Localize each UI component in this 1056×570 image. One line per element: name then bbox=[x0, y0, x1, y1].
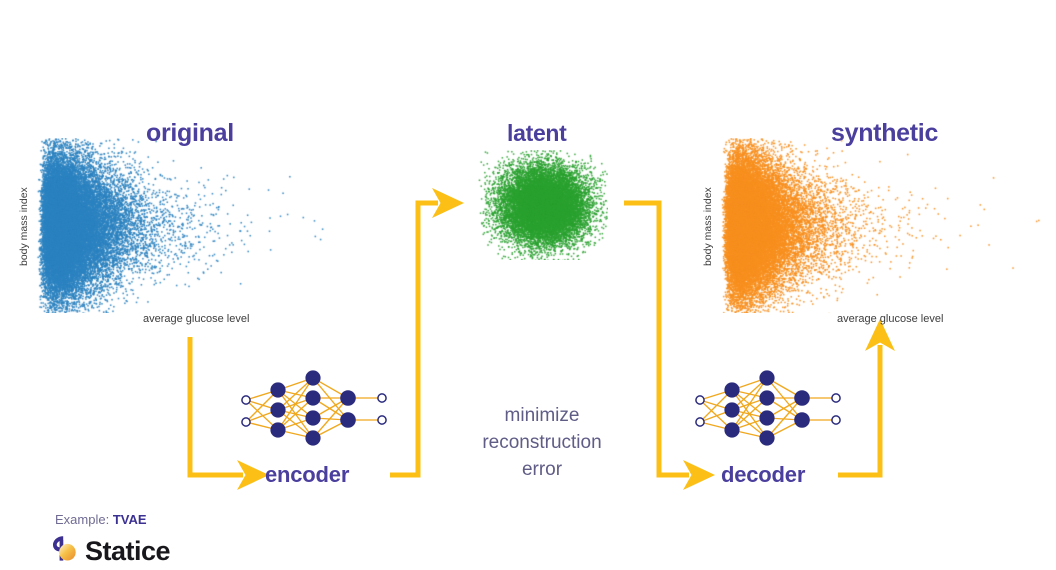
axis-label-x-synthetic: average glucose level bbox=[837, 313, 943, 325]
scatter-original bbox=[30, 138, 370, 313]
panel-original bbox=[30, 138, 370, 313]
scatter-synthetic bbox=[714, 138, 1044, 313]
caption-line-1: minimize bbox=[442, 402, 642, 429]
panel-title-synthetic: synthetic bbox=[831, 119, 938, 148]
neural-net-decoder bbox=[690, 360, 848, 460]
panel-title-original: original bbox=[146, 119, 234, 148]
scatter-latent bbox=[478, 150, 608, 260]
panel-synthetic bbox=[714, 138, 1044, 313]
axis-label-x-original: average glucose level bbox=[143, 313, 249, 325]
footer-example-value: TVAE bbox=[113, 512, 147, 527]
caption-line-3: error bbox=[442, 456, 642, 483]
panel-latent bbox=[478, 150, 608, 260]
diagram-canvas: original average glucose level body mass… bbox=[0, 0, 1056, 570]
label-decoder: decoder bbox=[721, 462, 805, 488]
statice-logo: Statice bbox=[50, 534, 170, 568]
neural-net-encoder bbox=[236, 360, 394, 460]
footer-example-prefix: Example: bbox=[55, 512, 109, 527]
statice-wordmark: Statice bbox=[85, 536, 170, 567]
arrow-encoder-to-latent bbox=[390, 203, 438, 475]
caption-minimize-reconstruction-error: minimize reconstruction error bbox=[442, 402, 642, 483]
panel-title-latent: latent bbox=[507, 120, 567, 147]
label-encoder: encoder bbox=[265, 462, 349, 488]
axis-label-y-original: body mass index bbox=[18, 187, 30, 266]
axis-label-y-synthetic: body mass index bbox=[702, 187, 714, 266]
statice-mark-icon bbox=[50, 534, 78, 568]
caption-line-2: reconstruction bbox=[442, 429, 642, 456]
footer-example: Example: TVAE bbox=[55, 512, 147, 527]
